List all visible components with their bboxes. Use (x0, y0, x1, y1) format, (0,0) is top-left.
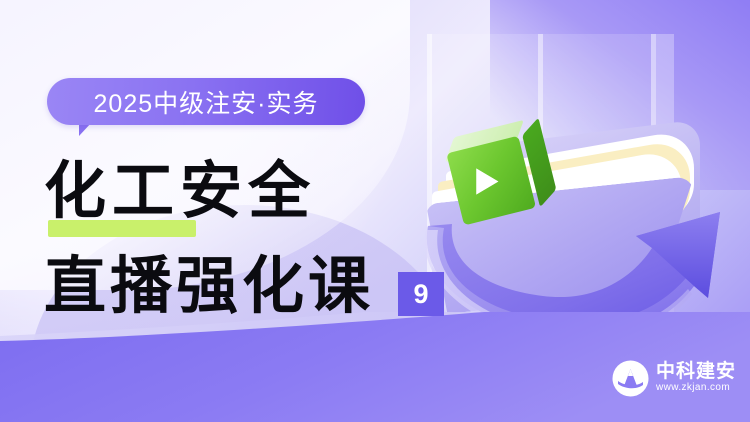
background-white-sheet (0, 0, 410, 290)
episode-badge: 9 (398, 272, 444, 316)
eyebrow-badge-label: 2025中级注安·实务 (94, 84, 319, 120)
eyebrow-badge: 2025中级注安·实务 (47, 78, 365, 125)
episode-badge-label: 9 (413, 279, 428, 310)
brand-name: 中科建安 (656, 362, 736, 382)
title-line-1: 化工安全 (44, 160, 316, 222)
mountain-circle-icon (612, 360, 649, 397)
brand-text-block: 中科建安 www.zkjan.com (656, 362, 736, 395)
play-triangle-icon (476, 169, 498, 195)
title-line-2: 直播强化课 (44, 255, 374, 317)
brand-logo[interactable]: 中科建安 www.zkjan.com (612, 357, 738, 399)
course-banner: 2025中级注安·实务 化工安全 直播强化课 9 中科建安 www.zkjan.… (0, 0, 750, 422)
brand-url: www.zkjan.com (656, 381, 736, 394)
